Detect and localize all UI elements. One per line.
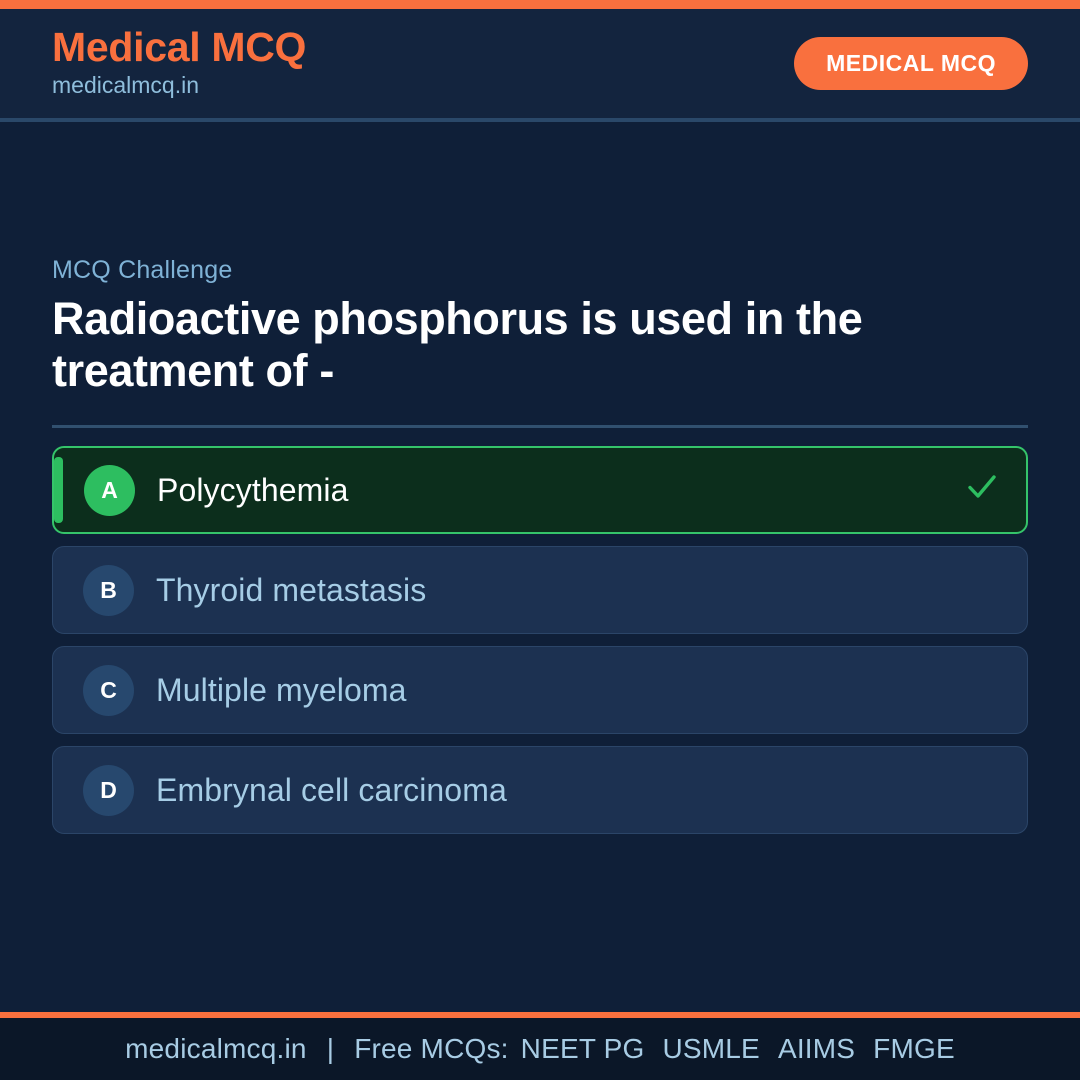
footer-text: medicalmcq.in | Free MCQs: NEET PG USMLE… (125, 1033, 955, 1065)
option-a[interactable]: A Polycythemia (52, 446, 1028, 534)
footer-separator: | (307, 1033, 354, 1065)
option-c-label: Multiple myeloma (156, 671, 407, 709)
option-b-key: B (83, 565, 134, 616)
brand-block: Medical MCQ medicalmcq.in (52, 26, 306, 101)
option-d-key: D (83, 765, 134, 816)
options-list: A Polycythemia B Thyroid metastasis (52, 446, 1028, 834)
option-d-label: Embrynal cell carcinoma (156, 771, 507, 809)
footer: medicalmcq.in | Free MCQs: NEET PG USMLE… (0, 1012, 1080, 1080)
header: Medical MCQ medicalmcq.in MEDICAL MCQ (0, 9, 1080, 122)
header-badge: MEDICAL MCQ (794, 37, 1028, 90)
mcq-challenge-label: MCQ Challenge (52, 256, 1028, 285)
brand-title: Medical MCQ (52, 26, 306, 69)
question-divider (52, 425, 1028, 428)
option-b-label: Thyroid metastasis (156, 571, 426, 609)
main-content: MCQ Challenge Radioactive phosphorus is … (0, 122, 1080, 1012)
option-c-key: C (83, 665, 134, 716)
brand-subtitle: medicalmcq.in (52, 71, 306, 101)
footer-exam-neetpg: NEET PG (521, 1033, 645, 1065)
footer-site: medicalmcq.in (125, 1033, 307, 1065)
option-b[interactable]: B Thyroid metastasis (52, 546, 1028, 634)
option-d[interactable]: D Embrynal cell carcinoma (52, 746, 1028, 834)
check-icon (948, 469, 1000, 512)
option-c[interactable]: C Multiple myeloma (52, 646, 1028, 734)
footer-exam-aiims: AIIMS (778, 1033, 855, 1065)
question-block: MCQ Challenge Radioactive phosphorus is … (52, 256, 1028, 834)
top-accent-bar (0, 0, 1080, 9)
footer-exams-prefix: Free MCQs: (354, 1033, 508, 1065)
question-text: Radioactive phosphorus is used in the tr… (52, 293, 1028, 397)
option-a-label: Polycythemia (157, 471, 349, 509)
footer-exam-fmge: FMGE (873, 1033, 955, 1065)
footer-exam-usmle: USMLE (662, 1033, 759, 1065)
option-a-key: A (84, 465, 135, 516)
mcq-card: Medical MCQ medicalmcq.in MEDICAL MCQ MC… (0, 0, 1080, 1080)
footer-exam-list: NEET PG USMLE AIIMS FMGE (521, 1033, 955, 1065)
